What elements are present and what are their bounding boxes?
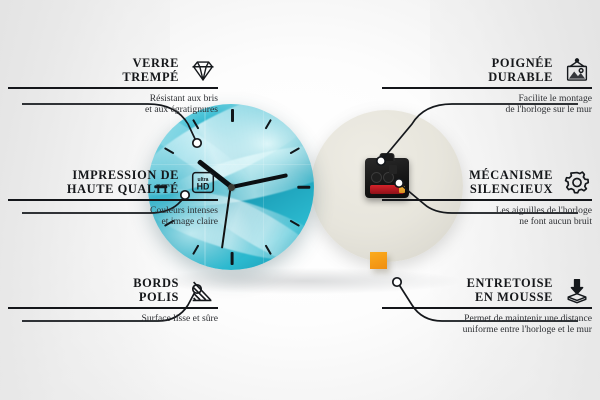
infographic-stage: VERRE TREMPÉ Résistant aux bris et aux é… bbox=[0, 0, 600, 400]
callout-title: POIGNÉE DURABLE bbox=[488, 56, 553, 84]
callout-silent-mechanism: MÉCANISME SILENCIEUX Les aiguilles de l'… bbox=[382, 168, 592, 228]
gear-icon bbox=[562, 169, 592, 196]
callout-polished-edges: BORDS POLIS Surface lisse et sûre bbox=[8, 276, 218, 324]
callout-desc: Surface lisse et sûre bbox=[8, 313, 218, 324]
callout-header: POIGNÉE DURABLE bbox=[382, 56, 592, 84]
hour-marker bbox=[231, 252, 234, 265]
callout-title: ENTRETOISE EN MOUSSE bbox=[467, 276, 553, 304]
glass-reflection-line bbox=[148, 164, 314, 166]
svg-text:HD: HD bbox=[197, 181, 210, 191]
callout-title: VERRE TREMPÉ bbox=[122, 56, 179, 84]
callout-desc: Permet de maintenir une distance uniform… bbox=[382, 313, 592, 336]
hanging-picture-icon bbox=[562, 57, 592, 84]
callout-header: BORDS POLIS bbox=[8, 276, 218, 304]
callout-rule bbox=[8, 307, 218, 309]
callout-desc: Facilite le montage de l'horloge sur le … bbox=[382, 93, 592, 116]
callout-title: BORDS POLIS bbox=[133, 276, 179, 304]
foam-spacer-arrow-icon bbox=[562, 277, 592, 304]
callout-tempered-glass: VERRE TREMPÉ Résistant aux bris et aux é… bbox=[8, 56, 218, 116]
callout-title: IMPRESSION DE HAUTE QUALITÉ bbox=[67, 168, 179, 196]
mechanism-hanger-tab bbox=[380, 153, 395, 161]
callout-title: MÉCANISME SILENCIEUX bbox=[469, 168, 553, 196]
callout-rule bbox=[382, 307, 592, 309]
callout-rule bbox=[382, 199, 592, 201]
hands-center-cap bbox=[228, 184, 235, 191]
callout-header: IMPRESSION DE HAUTE QUALITÉ ultra HD bbox=[8, 168, 218, 196]
hour-marker bbox=[192, 245, 199, 256]
callout-rule bbox=[382, 87, 592, 89]
callout-desc: Résistant aux bris et aux égratignures bbox=[8, 93, 218, 116]
callout-header: MÉCANISME SILENCIEUX bbox=[382, 168, 592, 196]
callout-desc: Couleurs intenses et image claire bbox=[8, 205, 218, 228]
polished-edges-icon bbox=[188, 277, 218, 304]
callout-desc: Les aiguilles de l'horloge ne font aucun… bbox=[382, 205, 592, 228]
diamond-icon bbox=[188, 57, 218, 84]
callout-rule bbox=[8, 199, 218, 201]
callout-print-quality: IMPRESSION DE HAUTE QUALITÉ ultra HD Cou… bbox=[8, 168, 218, 228]
callout-rule bbox=[8, 87, 218, 89]
hour-marker bbox=[297, 186, 310, 189]
ultra-hd-badge-icon: ultra HD bbox=[188, 169, 218, 196]
foam-spacer bbox=[370, 252, 387, 269]
callout-header: VERRE TREMPÉ bbox=[8, 56, 218, 84]
callout-durable-handle: POIGNÉE DURABLE Facilite le montage de l… bbox=[382, 56, 592, 116]
mechanism-dial bbox=[371, 172, 382, 183]
callout-header: ENTRETOISE EN MOUSSE bbox=[382, 276, 592, 304]
hour-marker bbox=[231, 109, 234, 122]
callout-foam-spacer: ENTRETOISE EN MOUSSE Permet de maintenir… bbox=[382, 276, 592, 336]
